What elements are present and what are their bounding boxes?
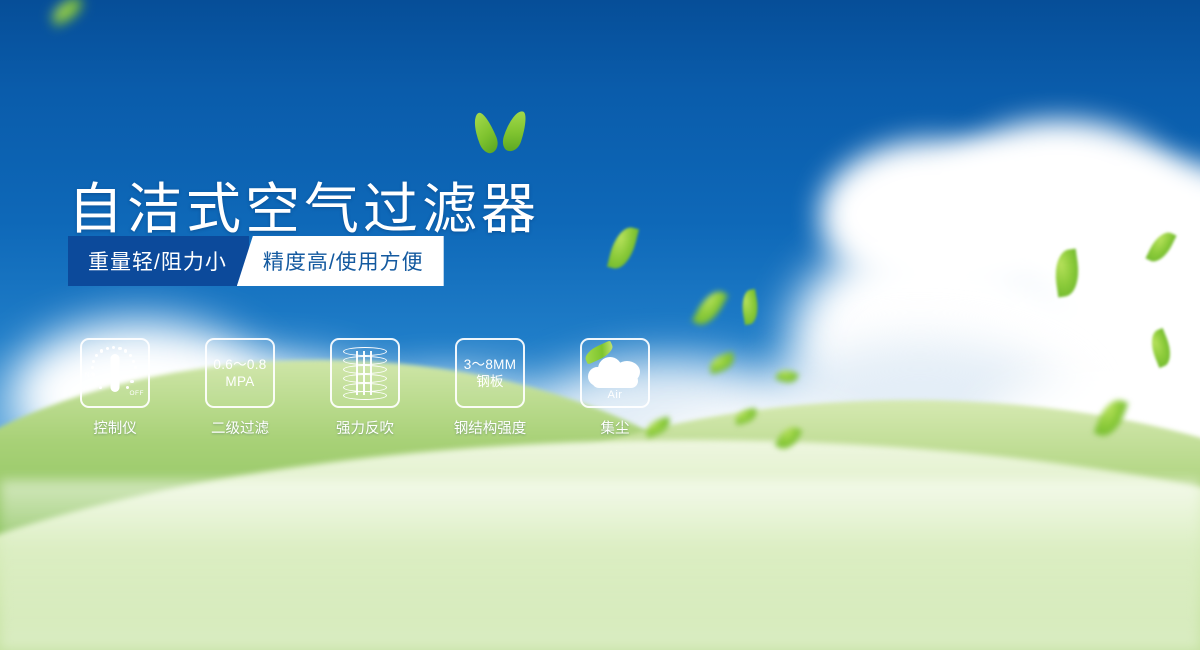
sprout-leaves-icon [470, 108, 540, 156]
pressure-unit: MPA [213, 373, 266, 390]
leaf-decor [692, 286, 728, 331]
subtitle-bar: 重量轻/阻力小 精度高/使用方便 [68, 236, 444, 286]
feature-label: 集尘 [601, 417, 630, 438]
subtitle-segment-right: 精度高/使用方便 [237, 236, 444, 286]
dial-off-label: OFF [130, 390, 145, 397]
dial-on-label: NO [85, 372, 96, 379]
feature-icon-box: 3～8MM 钢板 [455, 338, 525, 408]
feature-label: 强力反吹 [336, 417, 394, 438]
page-title: 自洁式空气过滤器 [68, 177, 540, 241]
leaf-decor [739, 289, 761, 325]
air-cloud-icon: Air [586, 347, 644, 399]
pressure-range: 0.6～0.8 [213, 356, 266, 373]
feature-item-steel-strength[interactable]: 3～8MM 钢板 钢结构强度 [455, 338, 525, 438]
steel-material: 钢板 [464, 373, 517, 390]
grass-highlight [0, 480, 1200, 650]
filter-cartridge-icon [343, 347, 387, 399]
air-label: Air [586, 389, 644, 401]
steel-thickness: 3～8MM [464, 356, 517, 373]
subtitle-segment-left: 重量轻/阻力小 [68, 236, 249, 286]
pressure-text-icon: 0.6～0.8 MPA [213, 356, 266, 390]
feature-label: 二级过滤 [211, 417, 269, 438]
feature-icon-box: NO OFF [80, 338, 150, 408]
feature-icon-box: Air [580, 338, 650, 408]
feature-item-two-stage-filter[interactable]: 0.6～0.8 MPA 二级过滤 [205, 338, 275, 438]
feature-item-dust-collection[interactable]: Air 集尘 [580, 338, 650, 438]
leaf-decor [48, 0, 86, 26]
feature-list: NO OFF 控制仪 0.6～0.8 MPA 二级过滤 [80, 338, 650, 438]
feature-label: 控制仪 [93, 417, 137, 438]
product-hero-banner: 自洁式空气过滤器 重量轻/阻力小 精度高/使用方便 [0, 0, 1200, 650]
feature-icon-box [330, 338, 400, 408]
dial-gauge-icon: NO OFF [84, 342, 146, 404]
feature-item-reverse-blow[interactable]: 强力反吹 [330, 338, 400, 438]
feature-item-control-gauge[interactable]: NO OFF 控制仪 [80, 338, 150, 438]
steel-plate-text-icon: 3～8MM 钢板 [464, 356, 517, 390]
leaf-decor [607, 224, 639, 272]
feature-icon-box: 0.6～0.8 MPA [205, 338, 275, 408]
feature-label: 钢结构强度 [454, 417, 527, 438]
